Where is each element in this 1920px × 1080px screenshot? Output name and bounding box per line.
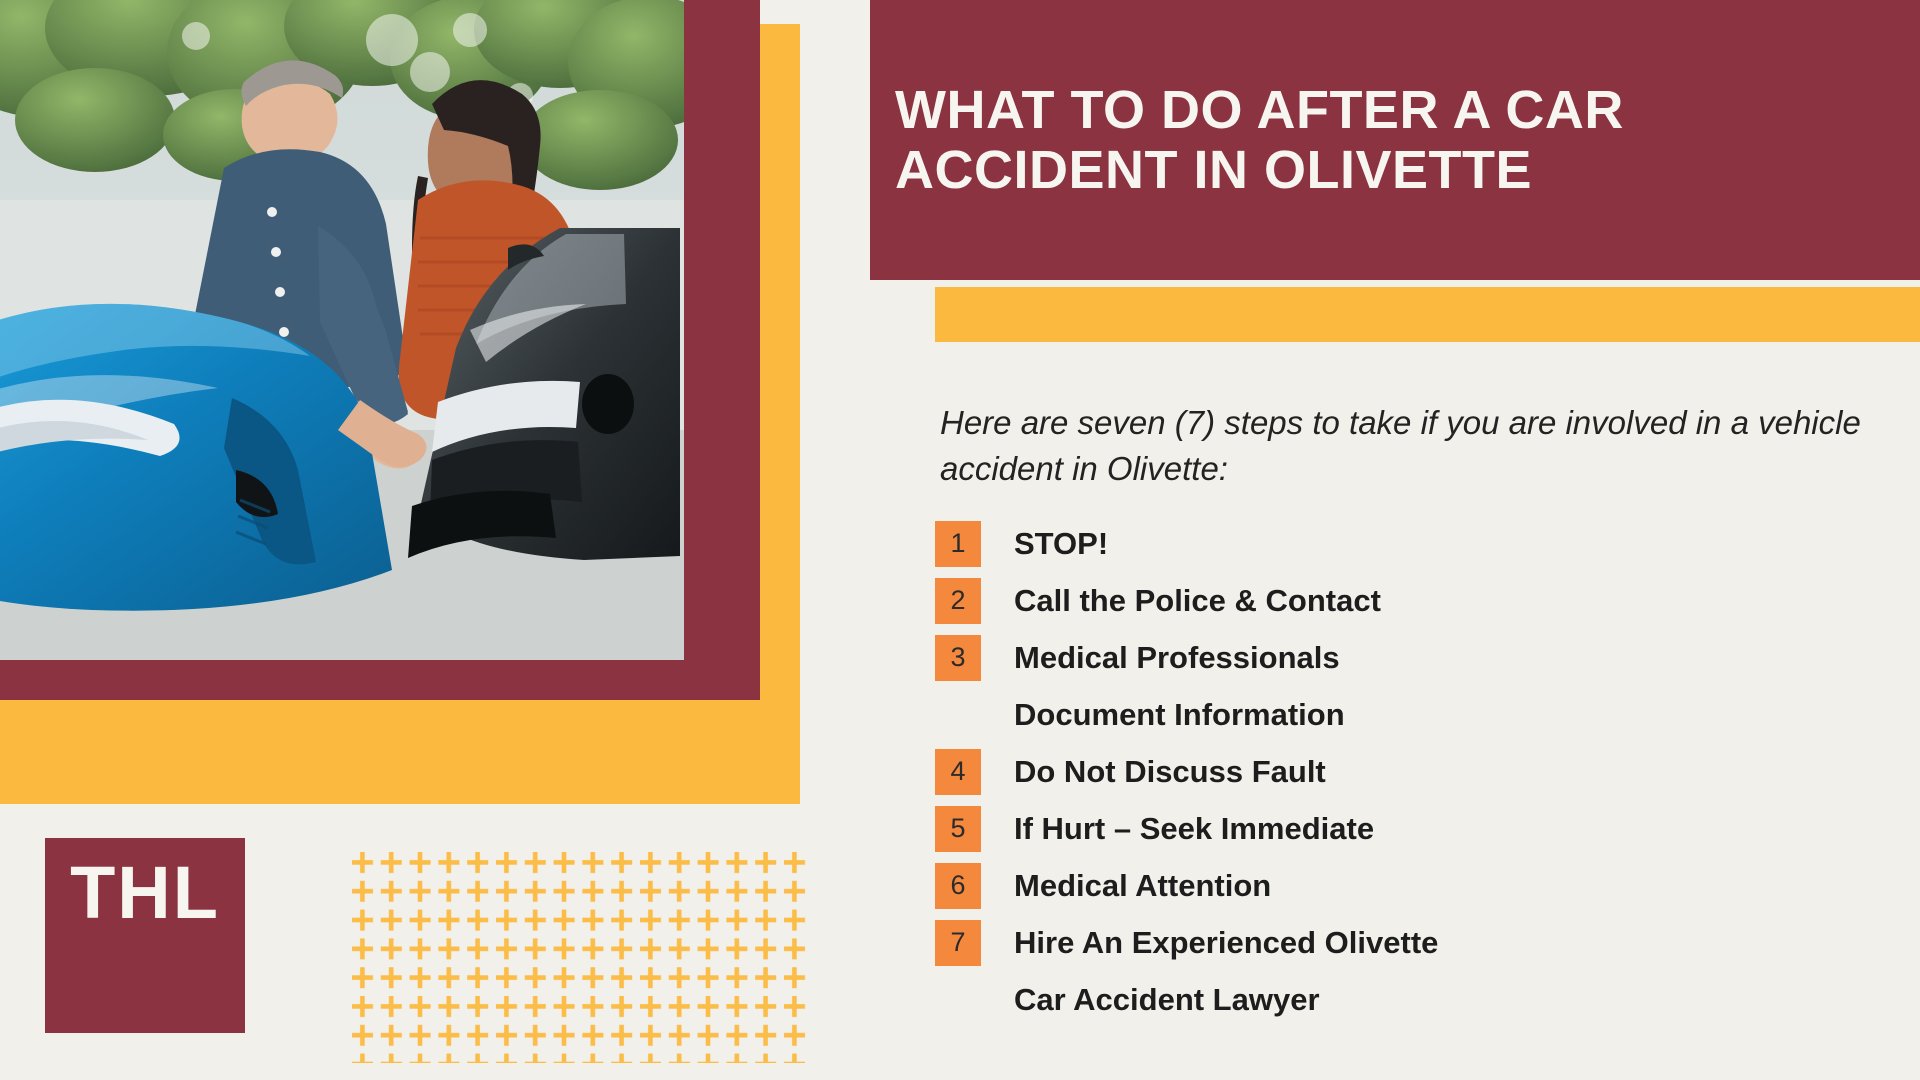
header-yellow-accent-bar: [935, 287, 1920, 342]
step-row: 4Do Not Discuss Fault: [935, 743, 1835, 800]
step-number-badge: 3: [935, 635, 981, 681]
step-row: Document Information: [935, 686, 1835, 743]
intro-paragraph: Here are seven (7) steps to take if you …: [940, 400, 1880, 491]
step-label: Document Information: [1014, 697, 1345, 733]
left-visual-column: [0, 0, 820, 830]
step-number-badge: 5: [935, 806, 981, 852]
steps-list: 1STOP!2Call the Police & Contact3Medical…: [935, 515, 1835, 1028]
step-label: If Hurt – Seek Immediate: [1014, 811, 1374, 847]
page-title: WHAT TO DO AFTER A CAR ACCIDENT IN OLIVE…: [895, 80, 1655, 201]
step-number-badge: 1: [935, 521, 981, 567]
step-number-badge-empty: [935, 977, 981, 1023]
step-label: Call the Police & Contact: [1014, 583, 1381, 619]
step-row: Car Accident Lawyer: [935, 971, 1835, 1028]
step-row: 3Medical Professionals: [935, 629, 1835, 686]
thl-logo: THL: [45, 838, 245, 1033]
step-row: 7Hire An Experienced Olivette: [935, 914, 1835, 971]
step-label: Medical Professionals: [1014, 640, 1340, 676]
step-number-badge: 2: [935, 578, 981, 624]
thl-logo-text: THL: [70, 856, 220, 930]
step-label: Do Not Discuss Fault: [1014, 754, 1326, 790]
step-number-badge-empty: [935, 692, 981, 738]
step-label: Hire An Experienced Olivette: [1014, 925, 1438, 961]
step-row: 2Call the Police & Contact: [935, 572, 1835, 629]
step-label: Medical Attention: [1014, 868, 1271, 904]
accident-photo-illustration: [0, 0, 684, 660]
step-number-badge: 6: [935, 863, 981, 909]
step-number-badge: 4: [935, 749, 981, 795]
brand-row: THL: [0, 830, 820, 1080]
step-number-badge: 7: [935, 920, 981, 966]
plus-pattern-svg: [348, 848, 808, 1063]
step-label: STOP!: [1014, 526, 1108, 562]
step-row: 6Medical Attention: [935, 857, 1835, 914]
plus-pattern-decoration: [348, 848, 808, 1063]
step-row: 5If Hurt – Seek Immediate: [935, 800, 1835, 857]
header-band: WHAT TO DO AFTER A CAR ACCIDENT IN OLIVE…: [870, 0, 1920, 280]
step-row: 1STOP!: [935, 515, 1835, 572]
accident-photo: [0, 0, 684, 660]
step-label: Car Accident Lawyer: [1014, 982, 1320, 1018]
